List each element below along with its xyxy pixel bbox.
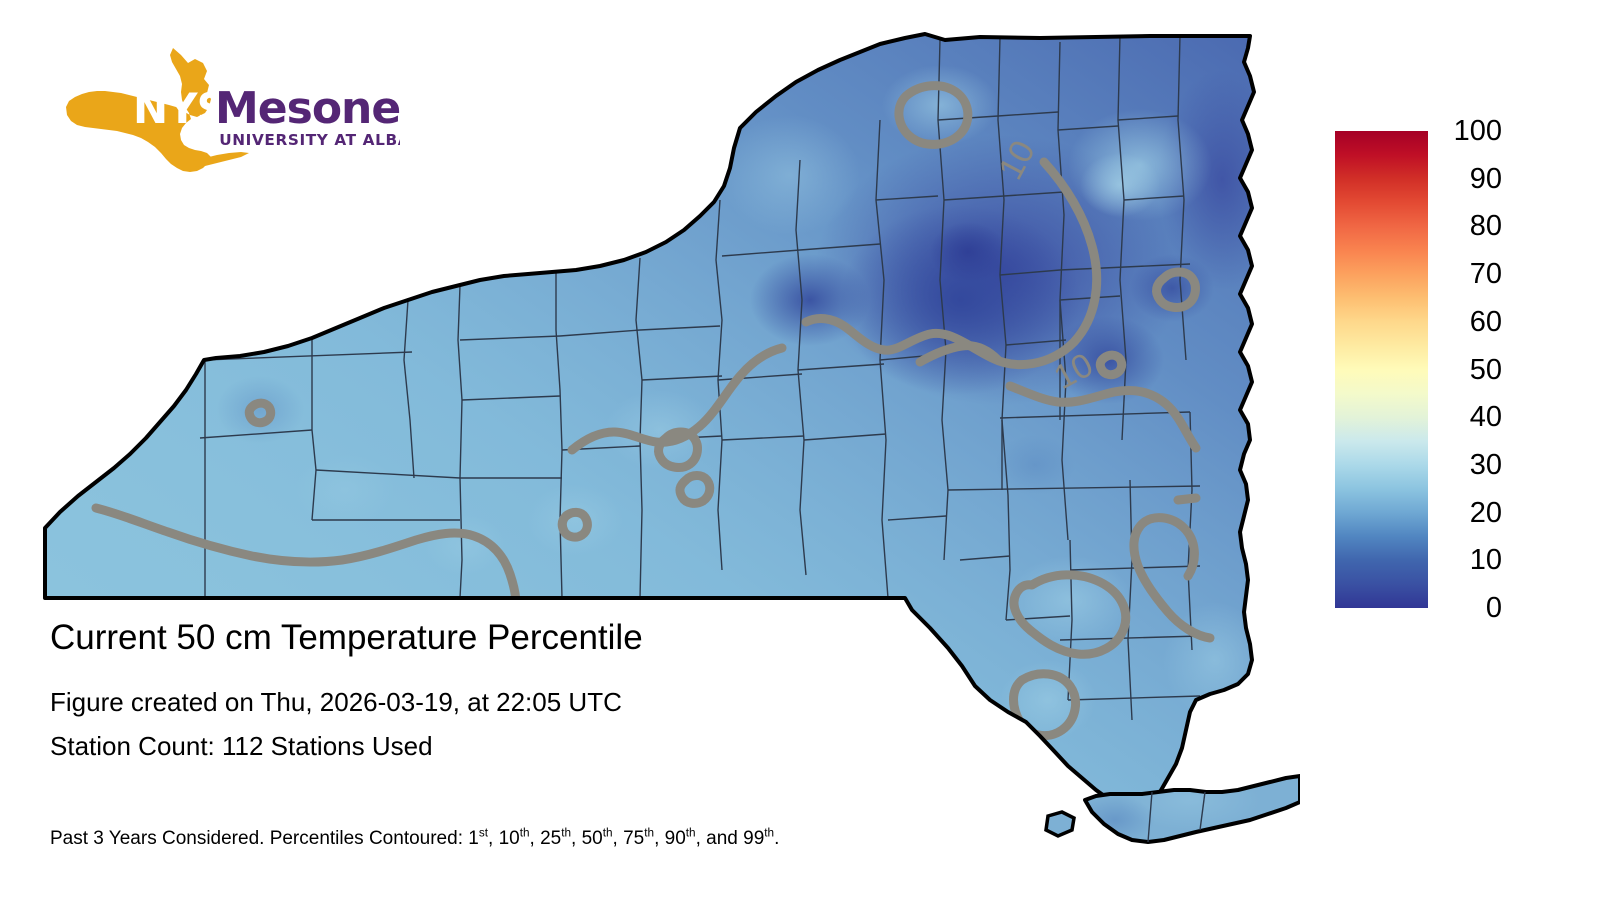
- footnote-s5: th: [686, 827, 696, 840]
- footnote-s4: th: [644, 827, 654, 840]
- footnote-v4: 75: [623, 828, 644, 849]
- colorbar-tick-labels: 100 90 80 70 60 50 40 30 20 10 0: [1440, 131, 1550, 608]
- cbar-tick-0: 0: [1440, 594, 1502, 623]
- cbar-tick-50: 50: [1440, 356, 1502, 385]
- cbar-tick-80: 80: [1440, 212, 1502, 241]
- cbar-tick-30: 30: [1440, 451, 1502, 480]
- cbar-tick-90: 90: [1440, 165, 1502, 194]
- cbar-tick-20: 20: [1440, 499, 1502, 528]
- percentile-colorbar: [1335, 131, 1428, 608]
- cbar-tick-100: 100: [1440, 117, 1502, 146]
- footnote-tail: .: [774, 828, 779, 849]
- footnote-v2: 25: [540, 828, 561, 849]
- logo-word-mesonet: Mesonet: [215, 83, 400, 134]
- footnote-v3: 50: [582, 828, 603, 849]
- footnote-prefix: Past 3 Years Considered. Percentiles Con…: [50, 828, 468, 849]
- figure-canvas: 10 10: [0, 0, 1600, 900]
- footnote-s2: th: [561, 827, 571, 840]
- footnote-s3: th: [603, 827, 613, 840]
- figure-title: Current 50 cm Temperature Percentile: [50, 620, 1050, 657]
- cbar-tick-40: 40: [1440, 403, 1502, 432]
- footnote-v0: 1: [468, 828, 479, 849]
- cbar-tick-70: 70: [1440, 260, 1502, 289]
- footnote-v6: 99: [743, 828, 764, 849]
- logo-word-nys: NYS: [133, 84, 226, 133]
- figure-created-line: Figure created on Thu, 2026-03-19, at 22…: [50, 689, 1050, 716]
- footnote-s0: st: [479, 827, 488, 840]
- figure-footnote: Past 3 Years Considered. Percentiles Con…: [50, 828, 779, 850]
- nys-mesonet-logo: NYS Mesonet UNIVERSITY AT ALBANY: [55, 45, 400, 175]
- caption-block: Current 50 cm Temperature Percentile Fig…: [50, 620, 1050, 760]
- cbar-tick-10: 10: [1440, 546, 1502, 575]
- cbar-tick-60: 60: [1440, 308, 1502, 337]
- footnote-s6: th: [764, 827, 774, 840]
- footnote-v1: 10: [499, 828, 520, 849]
- island-staten: [1046, 812, 1074, 836]
- footnote-s1: th: [520, 827, 530, 840]
- logo-tagline: UNIVERSITY AT ALBANY: [219, 131, 400, 149]
- footnote-v5: 90: [665, 828, 686, 849]
- station-count-line: Station Count: 112 Stations Used: [50, 733, 1050, 760]
